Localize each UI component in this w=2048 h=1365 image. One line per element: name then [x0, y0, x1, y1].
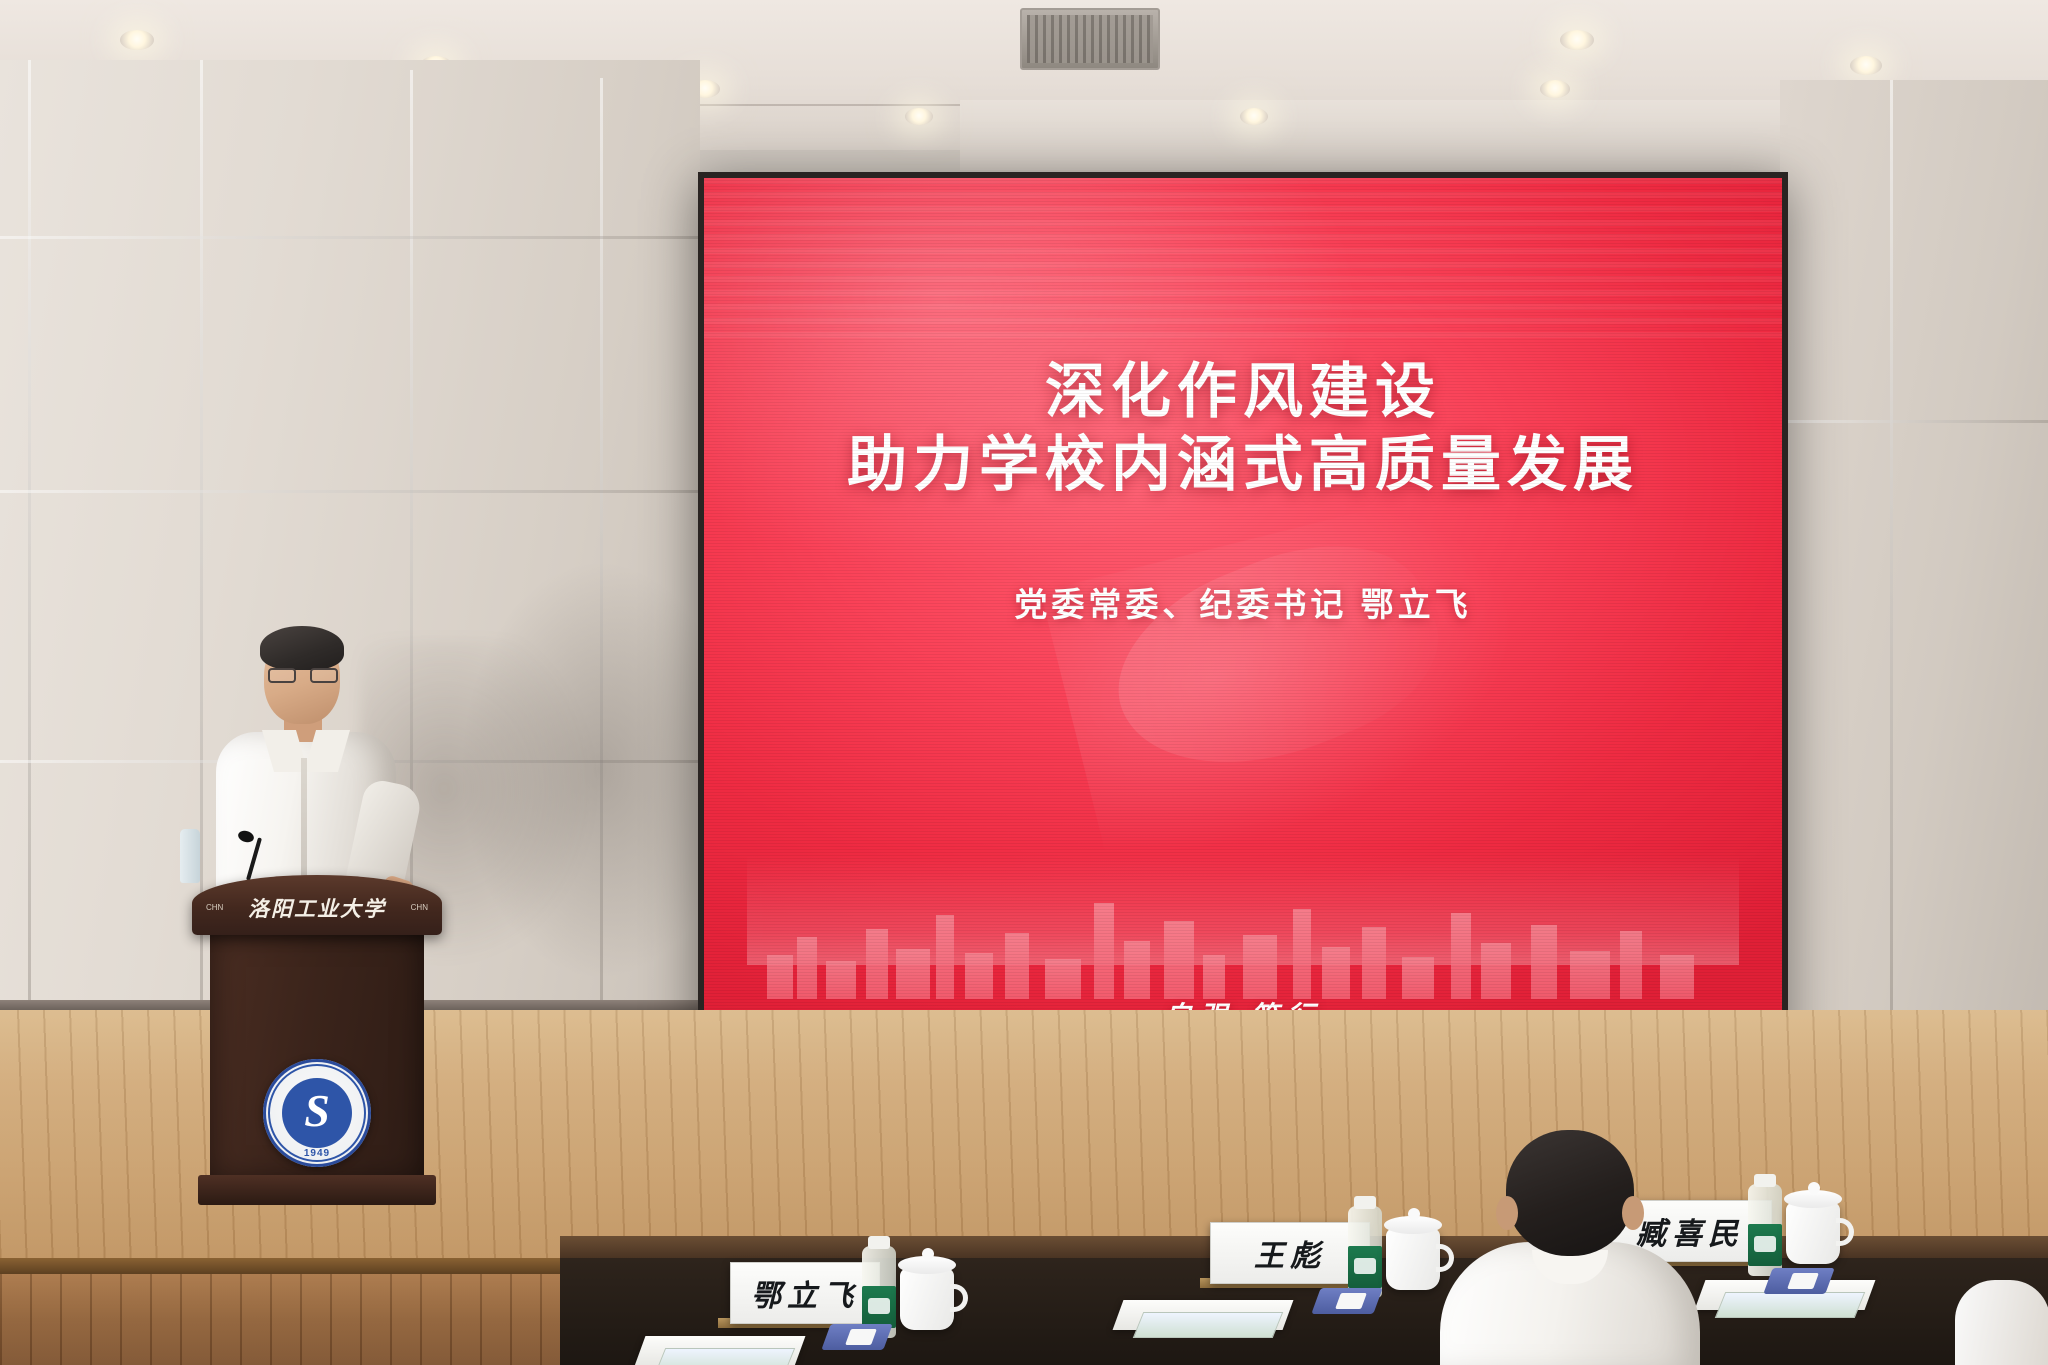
attendee-head [1506, 1130, 1634, 1256]
tea-cup [900, 1268, 954, 1330]
university-emblem: S 1949 [263, 1059, 371, 1167]
ceiling-light [1560, 30, 1594, 50]
emblem-letter: S [304, 1088, 330, 1134]
right-wall [1780, 80, 2048, 1020]
presentation-slide[interactable]: 深化作风建设 助力学校内涵式高质量发展 党委常委、纪委书记 鄂立飞 [704, 178, 1782, 1051]
wall-panel-seam [1780, 420, 2048, 423]
podium: S 1949 洛阳工业大学 CHN CHN [192, 875, 442, 1235]
booklet [1715, 1292, 1866, 1318]
podium-body: S 1949 [210, 931, 424, 1181]
water-bottle [1748, 1184, 1782, 1276]
emblem-inner-disc: S [282, 1078, 352, 1148]
ceiling-light [120, 30, 154, 50]
booklet [1133, 1312, 1284, 1338]
water-bottle [1348, 1206, 1382, 1298]
wall-panel-seam [1890, 80, 1893, 1010]
wall-panel-seam [0, 236, 700, 239]
attendee-ear [1622, 1196, 1644, 1230]
wall-panel-seam [28, 60, 31, 1020]
auditorium-scene: 深化作风建设 助力学校内涵式高质量发展 党委常委、纪委书记 鄂立飞 [0, 0, 2048, 1365]
slide-swoosh-graphic [1089, 509, 1461, 808]
podium-badge-right: CHN [411, 903, 428, 912]
air-vent-icon [1020, 8, 1160, 70]
speaker-hair [260, 626, 344, 670]
led-screen-frame: 深化作风建设 助力学校内涵式高质量发展 党委常委、纪委书记 鄂立飞 [698, 172, 1788, 1057]
pen-box [1311, 1288, 1382, 1314]
tea-cup [1786, 1202, 1840, 1264]
ceiling-light [1540, 80, 1570, 98]
booklet [655, 1348, 796, 1365]
pen-box [821, 1324, 892, 1350]
attendee-ear [1496, 1196, 1518, 1230]
slide-title-line2: 助力学校内涵式高质量发展 [704, 429, 1782, 502]
podium-water-bottle [180, 829, 200, 883]
slide-title-line1: 深化作风建设 [704, 356, 1782, 429]
emblem-year: 1949 [263, 1148, 371, 1159]
pen-box [1763, 1268, 1834, 1294]
podium-name-text: 洛阳工业大学 [192, 893, 442, 923]
skyline-graphic [747, 849, 1739, 999]
ceiling-light [1240, 108, 1268, 125]
slide-subtitle: 党委常委、纪委书记 鄂立飞 [704, 578, 1782, 626]
foreground-attendee [1440, 1130, 1700, 1365]
tea-cup [1386, 1228, 1440, 1290]
slide-swoosh-graphic [1040, 472, 1597, 897]
ceiling-light [1850, 56, 1882, 75]
ceiling-light [905, 108, 933, 125]
nameplate: 鄂立飞 [730, 1262, 880, 1324]
nameplate: 王彪 [1210, 1222, 1370, 1284]
slide-title: 深化作风建设 助力学校内涵式高质量发展 [704, 356, 1782, 502]
podium-base [198, 1175, 436, 1205]
foreground-attendee-partial [1955, 1280, 2048, 1365]
screen-scanline-band [704, 178, 1782, 338]
glasses-icon [268, 668, 338, 683]
podium-badge-left: CHN [206, 903, 223, 912]
wall-panel-seam [0, 490, 700, 493]
podium-top: 洛阳工业大学 CHN CHN [192, 875, 442, 935]
